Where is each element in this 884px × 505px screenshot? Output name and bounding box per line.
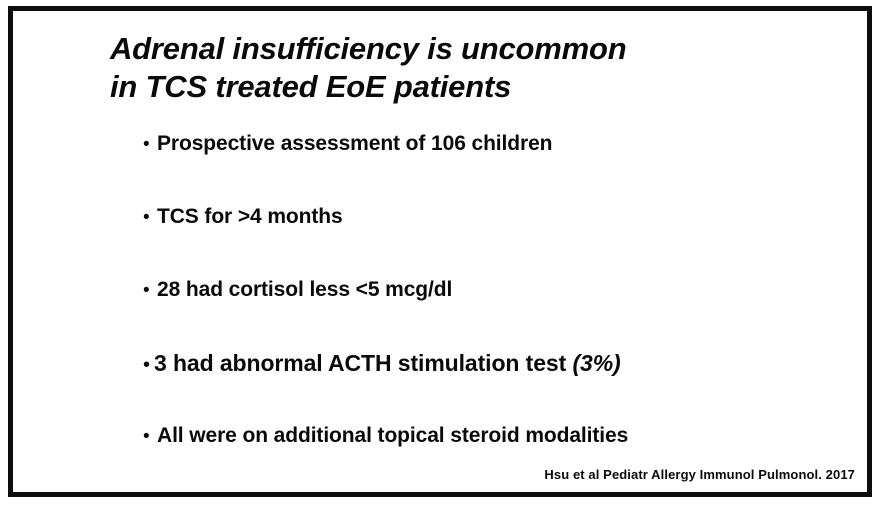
list-item: • 28 had cortisol less <5 mcg/dl xyxy=(143,278,863,351)
slide-frame: Adrenal insufficiency is uncommon in TCS… xyxy=(8,6,872,497)
slide-content: Adrenal insufficiency is uncommon in TCS… xyxy=(13,11,867,492)
list-item-note: (3%) xyxy=(572,350,620,376)
bullet-dot-icon: • xyxy=(143,355,154,375)
slide-title: Adrenal insufficiency is uncommon in TCS… xyxy=(110,30,810,106)
list-item: • All were on additional topical steroid… xyxy=(143,424,863,497)
bullet-dot-icon: • xyxy=(143,135,157,154)
list-item: • Prospective assessment of 106 children xyxy=(143,132,863,205)
bullet-list: • Prospective assessment of 106 children… xyxy=(143,132,863,497)
bullet-dot-icon: • xyxy=(143,208,157,227)
bullet-dot-icon: • xyxy=(143,281,157,300)
list-item-main-text: 3 had abnormal ACTH stimulation test xyxy=(154,350,572,376)
list-item-label: Prospective assessment of 106 children xyxy=(157,132,552,156)
list-item: • TCS for >4 months xyxy=(143,205,863,278)
slide-title-line-2: in TCS treated EoE patients xyxy=(110,68,810,106)
list-item: • 3 had abnormal ACTH stimulation test (… xyxy=(143,351,863,424)
slide-title-line-1: Adrenal insufficiency is uncommon xyxy=(110,30,810,68)
list-item-label: TCS for >4 months xyxy=(157,205,343,229)
list-item-label: 28 had cortisol less <5 mcg/dl xyxy=(157,278,452,302)
list-item-label: All were on additional topical steroid m… xyxy=(157,424,628,448)
citation-text: Hsu et al Pediatr Allergy Immunol Pulmon… xyxy=(544,467,855,483)
list-item-label: 3 had abnormal ACTH stimulation test (3%… xyxy=(154,351,621,375)
bullet-dot-icon: • xyxy=(143,427,157,446)
